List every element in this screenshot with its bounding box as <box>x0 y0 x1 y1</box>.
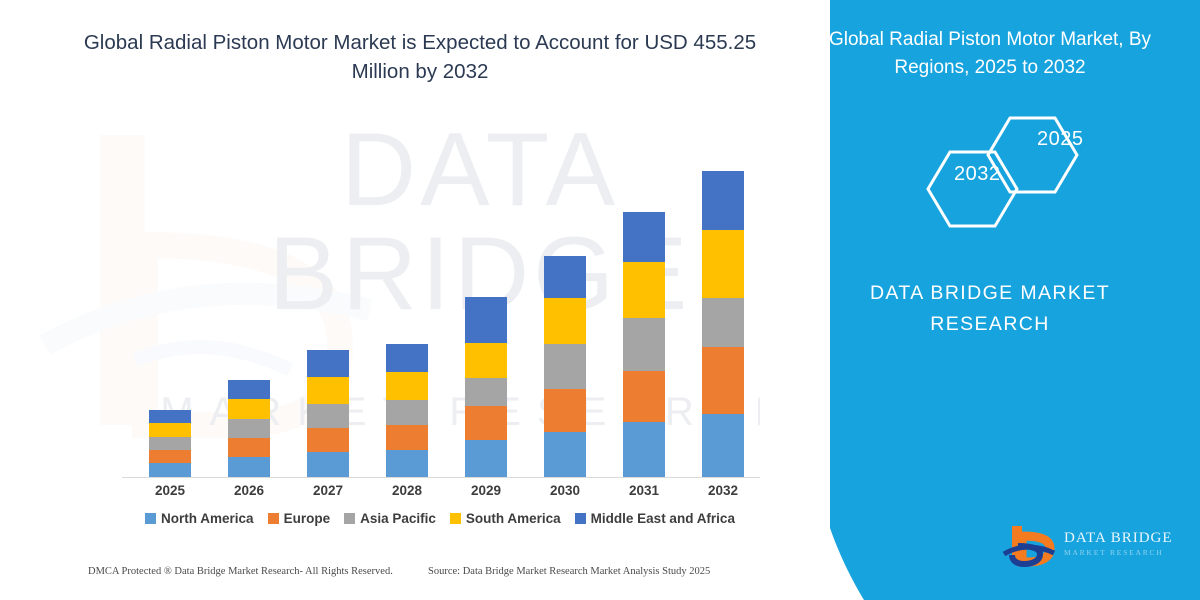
hexagon-badges: 2032 2025 <box>910 110 1170 240</box>
bar-group-2028 <box>369 344 445 477</box>
legend-label: Asia Pacific <box>360 511 436 526</box>
bar-segment[interactable] <box>149 463 191 477</box>
bar-segment[interactable] <box>623 371 665 422</box>
bar-segment[interactable] <box>623 212 665 262</box>
bar-segment[interactable] <box>465 440 507 477</box>
footer: DMCA Protected ® Data Bridge Market Rese… <box>0 566 830 588</box>
legend-swatch-icon <box>450 513 461 524</box>
bar-segment[interactable] <box>149 423 191 437</box>
bar-segment[interactable] <box>702 414 744 477</box>
dbmr-logo-name: DATA BRIDGE <box>1064 530 1173 547</box>
bar-segment[interactable] <box>386 450 428 477</box>
legend-swatch-icon <box>145 513 156 524</box>
bar-group-2026 <box>211 380 287 477</box>
bar-segment[interactable] <box>149 437 191 450</box>
bar-segment[interactable] <box>228 380 270 399</box>
legend-label: Middle East and Africa <box>591 511 735 526</box>
x-tick-label-2025: 2025 <box>132 483 208 498</box>
bar-group-2025 <box>132 410 208 477</box>
stacked-bar[interactable] <box>465 297 507 477</box>
bar-segment[interactable] <box>465 406 507 440</box>
bar-segment[interactable] <box>228 457 270 477</box>
x-tick-label-2028: 2028 <box>369 483 445 498</box>
bar-segment[interactable] <box>307 428 349 452</box>
bar-chart: 20252026202720282029203020312032 <box>0 0 830 600</box>
legend-item[interactable]: Asia Pacific <box>344 511 436 526</box>
bar-segment[interactable] <box>465 297 507 343</box>
x-tick-label-2030: 2030 <box>527 483 603 498</box>
stacked-bar[interactable] <box>702 171 744 477</box>
bar-segment[interactable] <box>465 343 507 378</box>
bar-segment[interactable] <box>307 404 349 428</box>
brand-name: DATA BRIDGE MARKET RESEARCH <box>820 278 1160 340</box>
bar-segment[interactable] <box>386 344 428 372</box>
hexagon-2025-label: 2025 <box>1037 128 1084 151</box>
bar-group-2027 <box>290 350 366 477</box>
dbmr-logo-mark <box>1002 522 1058 572</box>
chart-panel: DATA BRIDGE MARKET RESEARCH Global Radia… <box>0 0 830 600</box>
legend-item[interactable]: Europe <box>268 511 331 526</box>
bar-segment[interactable] <box>386 400 428 425</box>
stacked-bar[interactable] <box>228 380 270 477</box>
bar-segment[interactable] <box>228 438 270 457</box>
stacked-bar[interactable] <box>307 350 349 477</box>
legend-label: South America <box>466 511 561 526</box>
bar-segment[interactable] <box>544 389 586 432</box>
legend-label: Europe <box>284 511 331 526</box>
legend-swatch-icon <box>344 513 355 524</box>
bar-segment[interactable] <box>228 419 270 438</box>
bar-segment[interactable] <box>544 256 586 298</box>
bar-segment[interactable] <box>228 399 270 419</box>
x-tick-label-2032: 2032 <box>685 483 761 498</box>
bar-segment[interactable] <box>702 171 744 230</box>
bar-segment[interactable] <box>623 262 665 318</box>
dbmr-logo-subtitle: MARKET RESEARCH <box>1064 548 1164 557</box>
dmca-notice: DMCA Protected ® Data Bridge Market Rese… <box>88 566 393 577</box>
bar-group-2031 <box>606 212 682 477</box>
x-tick-label-2029: 2029 <box>448 483 524 498</box>
bar-segment[interactable] <box>149 410 191 423</box>
dbmr-logo: DATA BRIDGE MARKET RESEARCH <box>1002 522 1182 576</box>
stacked-bar[interactable] <box>386 344 428 477</box>
bar-segment[interactable] <box>386 425 428 450</box>
bar-segment[interactable] <box>544 344 586 389</box>
stacked-bar[interactable] <box>544 256 586 477</box>
bar-segment[interactable] <box>307 452 349 477</box>
bar-group-2032 <box>685 171 761 477</box>
legend-item[interactable]: North America <box>145 511 254 526</box>
hexagon-2032-label: 2032 <box>954 163 1001 186</box>
bar-group-2029 <box>448 297 524 477</box>
x-axis-line <box>122 477 772 478</box>
legend-label: North America <box>161 511 254 526</box>
bar-segment[interactable] <box>307 350 349 377</box>
stacked-bar[interactable] <box>623 212 665 477</box>
bar-segment[interactable] <box>544 298 586 344</box>
legend-item[interactable]: Middle East and Africa <box>575 511 735 526</box>
bar-segment[interactable] <box>544 432 586 477</box>
x-tick-label-2026: 2026 <box>211 483 287 498</box>
bar-segment[interactable] <box>702 298 744 347</box>
bar-segment[interactable] <box>307 377 349 404</box>
bar-segment[interactable] <box>702 347 744 414</box>
legend-swatch-icon <box>268 513 279 524</box>
x-tick-label-2031: 2031 <box>606 483 682 498</box>
x-tick-label-2027: 2027 <box>290 483 366 498</box>
bar-segment[interactable] <box>623 318 665 371</box>
bar-segment[interactable] <box>149 450 191 463</box>
legend-swatch-icon <box>575 513 586 524</box>
info-panel-title: Global Radial Piston Motor Market, By Re… <box>810 26 1170 81</box>
stacked-bar[interactable] <box>149 410 191 477</box>
bar-segment[interactable] <box>702 230 744 298</box>
bar-segment[interactable] <box>386 372 428 400</box>
chart-legend: North AmericaEuropeAsia PacificSouth Ame… <box>110 511 770 526</box>
legend-item[interactable]: South America <box>450 511 561 526</box>
source-note: Source: Data Bridge Market Research Mark… <box>428 566 710 577</box>
bar-segment[interactable] <box>623 422 665 477</box>
bar-group-2030 <box>527 256 603 477</box>
bar-segment[interactable] <box>465 378 507 406</box>
info-panel: Global Radial Piston Motor Market, By Re… <box>780 0 1200 600</box>
